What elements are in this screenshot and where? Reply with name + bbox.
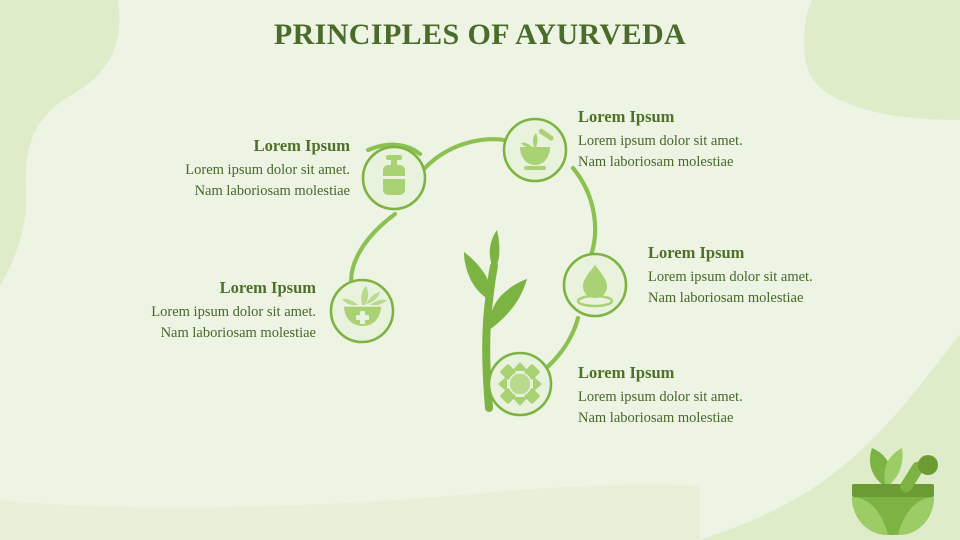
- text-block-body-line-1: Lorem ipsum dolor sit amet.: [578, 387, 828, 408]
- text-block-body-line-2: Nam laboriosam molestiae: [118, 181, 350, 202]
- lotus-icon: [498, 362, 542, 406]
- text-block-heading: Lorem Ipsum: [118, 136, 350, 157]
- mortar-pestle-logo: [852, 448, 938, 535]
- slide-canvas: PRINCIPLES OF AYURVEDA Lorem Ipsum Lorem…: [0, 0, 960, 540]
- text-block-body-line-2: Nam laboriosam molestiae: [648, 288, 898, 309]
- text-block-heading: Lorem Ipsum: [100, 278, 316, 299]
- text-block-body-line-1: Lorem ipsum dolor sit amet.: [648, 267, 898, 288]
- text-block-herb-bowl: Lorem Ipsum Lorem ipsum dolor sit amet. …: [100, 278, 316, 344]
- text-block-body-line-1: Lorem ipsum dolor sit amet.: [578, 131, 834, 152]
- node-herb-bowl[interactable]: [331, 280, 393, 342]
- text-block-heading: Lorem Ipsum: [648, 243, 898, 264]
- text-block-bottle: Lorem Ipsum Lorem ipsum dolor sit amet. …: [118, 136, 350, 202]
- node-droplet[interactable]: [564, 254, 626, 316]
- node-bottle[interactable]: [363, 147, 425, 209]
- logo-leaves: [870, 448, 903, 487]
- node-mortar[interactable]: [504, 119, 566, 181]
- sprout-leaf-left: [464, 252, 490, 300]
- text-block-heading: Lorem Ipsum: [578, 363, 828, 384]
- text-block-lotus: Lorem Ipsum Lorem ipsum dolor sit amet. …: [578, 363, 828, 429]
- logo-bowl-rim: [852, 484, 934, 497]
- text-block-body-line-2: Nam laboriosam molestiae: [578, 152, 834, 173]
- node-lotus[interactable]: [489, 353, 551, 415]
- text-block-mortar: Lorem Ipsum Lorem ipsum dolor sit amet. …: [578, 107, 834, 173]
- text-block-body-line-1: Lorem ipsum dolor sit amet.: [100, 302, 316, 323]
- text-block-heading: Lorem Ipsum: [578, 107, 834, 128]
- page-title: PRINCIPLES OF AYURVEDA: [0, 18, 960, 52]
- text-block-body-line-1: Lorem ipsum dolor sit amet.: [118, 160, 350, 181]
- text-block-body-line-2: Nam laboriosam molestiae: [578, 408, 828, 429]
- text-block-droplet: Lorem Ipsum Lorem ipsum dolor sit amet. …: [648, 243, 898, 309]
- text-block-body-line-2: Nam laboriosam molestiae: [100, 323, 316, 344]
